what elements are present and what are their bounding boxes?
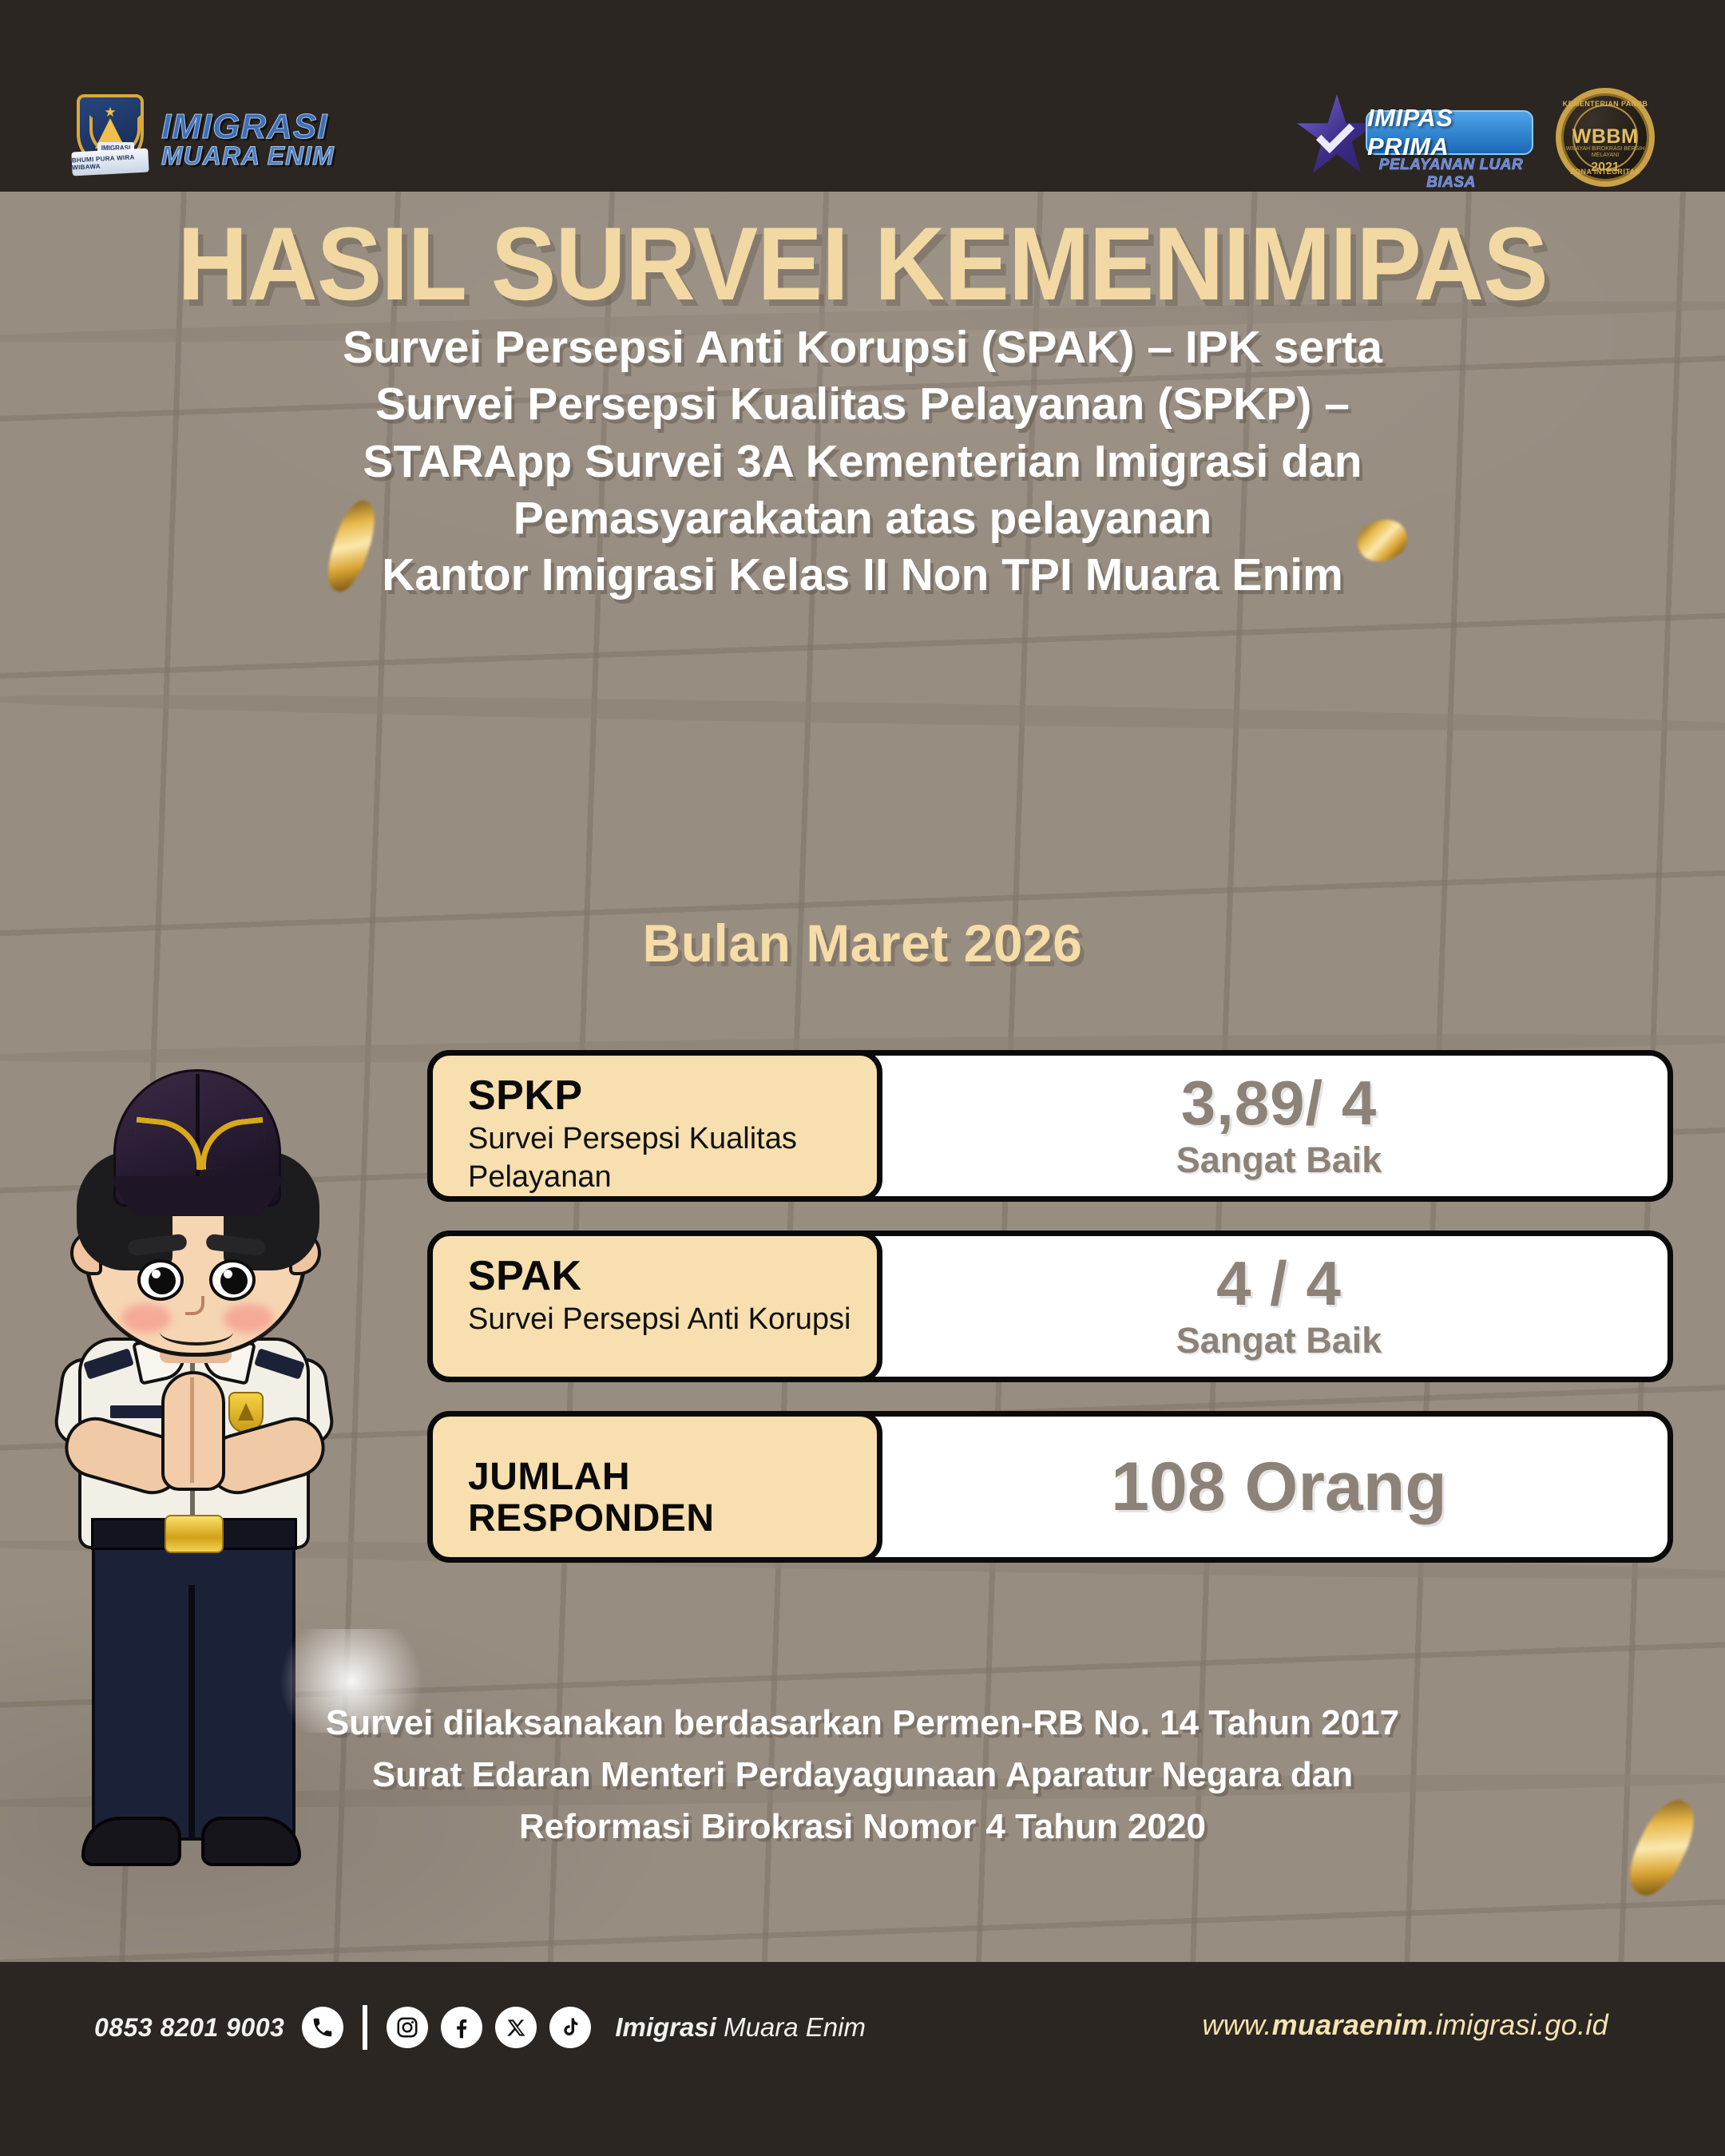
instagram-icon[interactable] (387, 2007, 428, 2048)
result-value-box: 3,89/ 4 Sangat Baik (882, 1056, 1667, 1196)
result-code: SPAK (468, 1255, 877, 1298)
mascot-shoe-right (201, 1817, 301, 1866)
page-title: HASIL SURVEI KEMENIMIPAS (52, 212, 1673, 315)
mascot-nametag (110, 1405, 165, 1418)
result-value-box: 108 Orang (882, 1417, 1667, 1557)
header-bar: ★ IMIGRASI BHUMI PURA WIRA WIBAWA IMIGRA… (0, 0, 1725, 192)
social-handle-rest: Muara Enim (716, 2012, 866, 2042)
result-code: SPKP (468, 1075, 877, 1117)
result-description: Survei Persepsi Kualitas Pelayanan (468, 1120, 877, 1197)
tiktok-icon[interactable] (549, 2007, 591, 2048)
imipas-prima-badge: IMIPAS PRIMA PELAYANAN LUAR BIASA (1295, 89, 1535, 185)
result-value-box: 4 / 4 Sangat Baik (882, 1236, 1667, 1377)
website-url[interactable]: www.muaraenim.imigrasi.go.id (1202, 2008, 1608, 2042)
phone-icon[interactable] (302, 2007, 343, 2048)
brand-line-muara-enim: MUARA ENIM (161, 144, 335, 168)
survey-period: Bulan Maret 2026 (0, 913, 1725, 973)
mascot-belt-buckle-icon (165, 1515, 224, 1553)
subtitle-line: Survei Persepsi Kualitas Pelayanan (SPKP… (192, 376, 1533, 433)
facebook-icon[interactable] (441, 2007, 482, 2048)
results-list: SPKP Survei Persepsi Kualitas Pelayanan … (427, 1050, 1673, 1591)
wbbm-description: WILAYAH BIROKRASI BERSIH MELAYANI (1561, 146, 1649, 159)
social-handle: Imigrasi Muara Enim (615, 2012, 866, 2043)
result-score: 108 Orang (1111, 1448, 1447, 1527)
subtitle-line: Kantor Imigrasi Kelas II Non TPI Muara E… (192, 547, 1533, 604)
footer-divider (363, 2005, 367, 2050)
result-rating: Sangat Baik (1176, 1139, 1382, 1181)
result-label-box: SPAK Survei Persepsi Anti Korupsi (427, 1231, 882, 1382)
x-twitter-icon[interactable] (495, 2007, 537, 2048)
wbbm-seal-icon: KEMENTERIAN PANRB WBBM WILAYAH BIROKRASI… (1556, 88, 1655, 187)
header-badges: IMIPAS PRIMA PELAYANAN LUAR BIASA KEMENT… (1295, 88, 1655, 187)
result-score: 4 / 4 (1216, 1251, 1342, 1317)
url-suffix: .imigrasi.go.id (1427, 2008, 1608, 2041)
result-score: 3,89/ 4 (1181, 1071, 1378, 1136)
result-card-responden: JUMLAH RESPONDEN 108 Orang (427, 1411, 1673, 1563)
brand-line-imigrasi: IMIGRASI (161, 110, 335, 144)
url-domain: muaraenim (1272, 2008, 1428, 2041)
shield-motto-ribbon: BHUMI PURA WIRA WIBAWA (71, 149, 149, 176)
phone-number: 0853 8201 9003 (94, 2013, 284, 2043)
sparkle-glow (264, 1629, 439, 1733)
result-description: Survei Persepsi Anti Korupsi (468, 1301, 877, 1339)
subtitle-line: STARApp Survei 3A Kementerian Imigrasi d… (192, 434, 1533, 490)
imipas-prima-title: IMIPAS PRIMA (1366, 110, 1533, 155)
result-code: JUMLAH RESPONDEN (468, 1436, 877, 1540)
imipas-prima-subtitle: PELAYANAN LUAR BIASA (1367, 157, 1535, 192)
result-label-box: JUMLAH RESPONDEN (427, 1411, 882, 1563)
url-prefix: www. (1202, 2008, 1271, 2041)
footer-contact-group: 0853 8201 9003 (94, 2005, 866, 2050)
subtitle-block: Survei Persepsi Anti Korupsi (SPAK) – IP… (192, 319, 1533, 604)
imigrasi-shield-icon: ★ IMIGRASI BHUMI PURA WIRA WIBAWA (73, 94, 147, 184)
result-label-box: SPKP Survei Persepsi Kualitas Pelayanan (427, 1050, 882, 1202)
wbbm-zone-label: ZONA INTEGRITAS (1561, 168, 1649, 176)
wbbm-acronym: WBBM (1561, 125, 1649, 149)
social-handle-bold: Imigrasi (615, 2012, 716, 2042)
result-card-spkp: SPKP Survei Persepsi Kualitas Pelayanan … (427, 1050, 1673, 1202)
subtitle-line: Pemasyarakatan atas pelayanan (192, 490, 1533, 547)
subtitle-line: Survei Persepsi Anti Korupsi (SPAK) – IP… (192, 319, 1533, 376)
result-rating: Sangat Baik (1176, 1320, 1382, 1361)
wbbm-ministry-label: KEMENTERIAN PANRB (1561, 100, 1649, 108)
poster-root: ★ IMIGRASI BHUMI PURA WIRA WIBAWA IMIGRA… (0, 0, 1725, 2156)
result-card-spak: SPAK Survei Persepsi Anti Korupsi 4 / 4 … (427, 1231, 1673, 1382)
footer-bar: 0853 8201 9003 (0, 1962, 1725, 2156)
mascot-shoe-left (81, 1817, 181, 1866)
immigration-officer-mascot (8, 1074, 383, 1952)
brand-logo-imigrasi: ★ IMIGRASI BHUMI PURA WIRA WIBAWA IMIGRA… (73, 94, 335, 184)
